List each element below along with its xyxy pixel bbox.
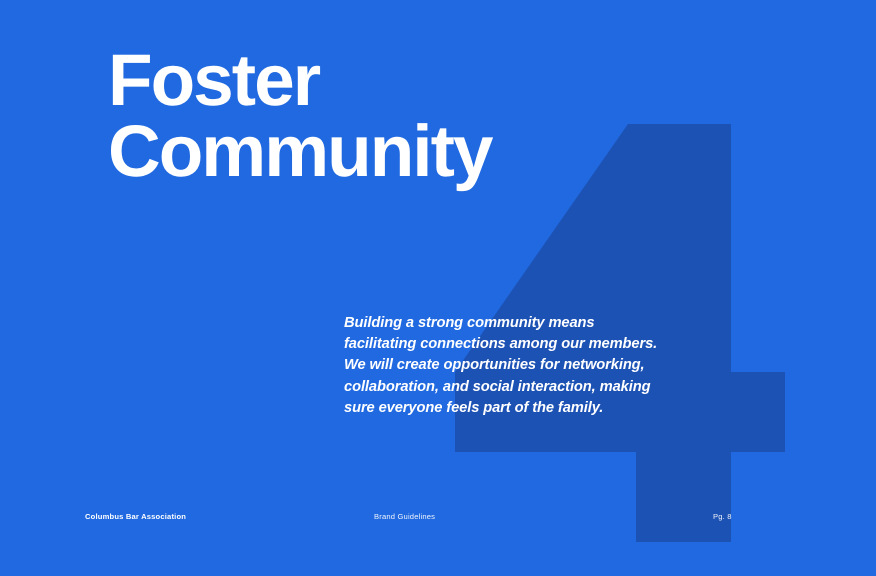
body-paragraph-line-4: collaboration, and social interaction, m… [344,377,704,398]
page-title: Foster Community [108,46,492,188]
footer-page-number: Pg. 8 [713,511,732,523]
body-paragraph-line-5: sure everyone feels part of the family. [344,398,704,419]
body-paragraph-line-3: We will create opportunities for network… [344,355,704,376]
body-paragraph: Building a strong community means facili… [344,313,704,419]
slide-footer: Columbus Bar Association Brand Guideline… [0,511,876,525]
body-paragraph-line-2: facilitating connections among our membe… [344,334,704,355]
page-title-line-2: Community [108,117,492,188]
slide-canvas: 4 Foster Community Building a strong com… [0,0,876,576]
footer-brand-name: Columbus Bar Association [85,511,186,523]
body-paragraph-line-1: Building a strong community means [344,313,704,334]
footer-document-title: Brand Guidelines [374,511,435,523]
page-title-line-1: Foster [108,46,492,117]
